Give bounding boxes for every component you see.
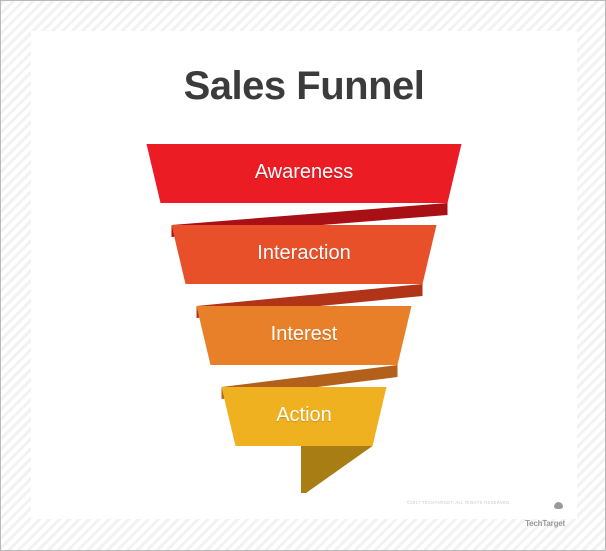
infographic-card: Sales Funnel Awareness Interaction Inter… bbox=[31, 31, 577, 519]
infographic-screenshot: Sales Funnel Awareness Interaction Inter… bbox=[0, 0, 606, 551]
funnel-band-interest[interactable] bbox=[197, 306, 412, 365]
funnel-tail bbox=[301, 446, 373, 493]
funnel-band-interaction[interactable] bbox=[172, 225, 437, 284]
funnel-svg bbox=[31, 31, 577, 519]
logo-label: TechTarget bbox=[525, 501, 565, 528]
techtarget-mark-icon bbox=[554, 502, 563, 509]
sales-funnel-diagram: Awareness Interaction Interest Action bbox=[31, 31, 577, 519]
funnel-band-action[interactable] bbox=[222, 387, 387, 446]
techtarget-logo: TechTarget bbox=[517, 495, 565, 510]
logo-wordmark: TechTarget bbox=[525, 519, 565, 528]
copyright-text: ©2017 TECHTARGET. ALL RIGHTS RESERVED. bbox=[407, 500, 511, 505]
funnel-band-awareness[interactable] bbox=[147, 144, 462, 203]
